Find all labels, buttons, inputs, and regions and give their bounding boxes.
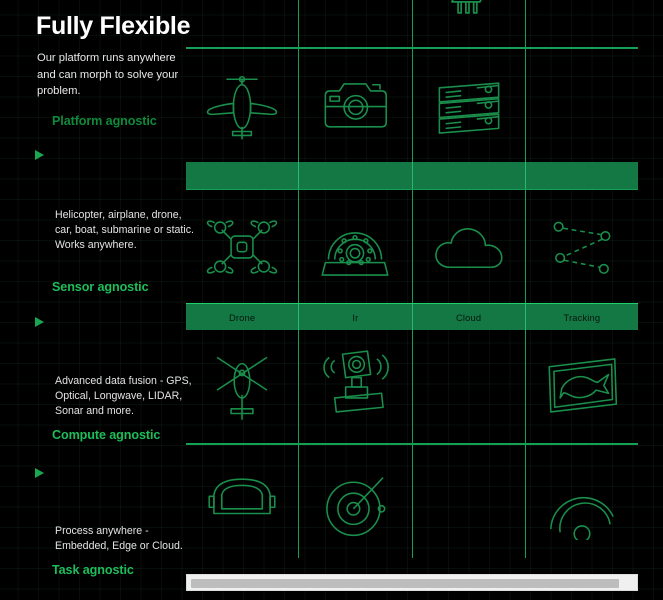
grid-label-cloud[interactable]: Cloud xyxy=(413,304,526,330)
helicopter-icon xyxy=(203,348,281,426)
grid-row xyxy=(186,49,638,162)
grid-cell-helicopter[interactable] xyxy=(186,330,299,443)
grid-label-band xyxy=(186,162,638,189)
grid-cell-blank[interactable] xyxy=(186,0,299,47)
grid-cell-airplane[interactable] xyxy=(186,49,299,162)
grid-row xyxy=(186,190,638,303)
play-triangle-icon-compute[interactable] xyxy=(35,468,44,478)
airplane-icon xyxy=(203,66,281,144)
page-title: Fully Flexible xyxy=(36,12,190,41)
section-heading-sensor-agnostic[interactable]: Sensor agnostic xyxy=(52,280,148,294)
section-body-sensor-agnostic: Advanced data fusion - GPS, Optical, Lon… xyxy=(55,374,200,419)
camera-icon xyxy=(316,66,394,144)
security-camera-icon xyxy=(316,348,394,426)
grid-cell-cloud[interactable] xyxy=(413,190,526,303)
radar-icon xyxy=(316,462,394,540)
sonar-dome-icon xyxy=(543,462,621,540)
grid-label-tracking[interactable]: Tracking xyxy=(526,304,638,330)
grid-label[interactable] xyxy=(526,162,638,189)
grid-cell-drone[interactable] xyxy=(186,190,299,303)
quadcopter-drone-icon xyxy=(203,208,281,286)
icon-grid-viewport[interactable]: Drone Ir Cloud Tracking xyxy=(186,0,638,583)
grid-cell-whale[interactable] xyxy=(526,330,638,443)
left-text-column: Fully Flexible Our platform runs anywher… xyxy=(0,0,190,600)
grid-label[interactable] xyxy=(299,162,412,189)
infrared-sensor-icon xyxy=(316,208,394,286)
grid-label-ir[interactable]: Ir xyxy=(299,304,412,330)
grid-label-band: Drone Ir Cloud Tracking xyxy=(186,303,638,330)
whale-detection-icon xyxy=(543,348,621,426)
grid-cell-blank[interactable] xyxy=(526,49,638,162)
grid-cell-blank[interactable] xyxy=(526,0,638,47)
grid-row xyxy=(186,330,638,443)
grid-row xyxy=(186,0,638,47)
grid-label-drone[interactable]: Drone xyxy=(186,304,299,330)
section-heading-task-agnostic[interactable]: Task agnostic xyxy=(52,563,134,577)
grid-label[interactable] xyxy=(413,162,526,189)
server-rack-icon xyxy=(430,66,508,144)
grid-cell-security-camera[interactable] xyxy=(299,330,412,443)
grid-cell-ir[interactable] xyxy=(299,190,412,303)
page-intro-text: Our platform runs anywhere and can morph… xyxy=(37,50,192,100)
play-triangle-icon-platform[interactable] xyxy=(35,150,44,160)
horizontal-scrollbar-thumb[interactable] xyxy=(191,579,619,588)
grid-label[interactable] xyxy=(186,162,299,189)
grid-cell-blank[interactable] xyxy=(299,0,412,47)
grid-cell-camera[interactable] xyxy=(299,49,412,162)
section-body-platform-agnostic: Helicopter, airplane, drone, car, boat, … xyxy=(55,208,200,253)
grid-cell-cpu[interactable] xyxy=(413,0,526,47)
play-triangle-icon-sensor[interactable] xyxy=(35,317,44,327)
grid-cell-sonar[interactable] xyxy=(526,445,638,558)
section-heading-platform-agnostic[interactable]: Platform agnostic xyxy=(52,114,157,128)
section-body-compute-agnostic: Process anywhere - Embedded, Edge or Clo… xyxy=(55,524,200,554)
cloud-icon xyxy=(430,208,508,286)
grid-cell-blank[interactable] xyxy=(413,445,526,558)
tracking-nodes-icon xyxy=(543,208,621,286)
grid-row xyxy=(186,445,638,558)
grid-cell-blank[interactable] xyxy=(413,330,526,443)
page-root: Fully Flexible Our platform runs anywher… xyxy=(0,0,663,600)
grid-cell-server[interactable] xyxy=(413,49,526,162)
section-heading-compute-agnostic[interactable]: Compute agnostic xyxy=(52,428,160,442)
icon-grid-scroll-content: Drone Ir Cloud Tracking xyxy=(186,0,638,558)
grid-cell-car[interactable] xyxy=(186,445,299,558)
cpu-chip-icon xyxy=(430,0,508,30)
horizontal-scrollbar-track[interactable] xyxy=(186,574,638,591)
car-icon xyxy=(203,462,281,540)
grid-cell-radar[interactable] xyxy=(299,445,412,558)
grid-cell-tracking[interactable] xyxy=(526,190,638,303)
